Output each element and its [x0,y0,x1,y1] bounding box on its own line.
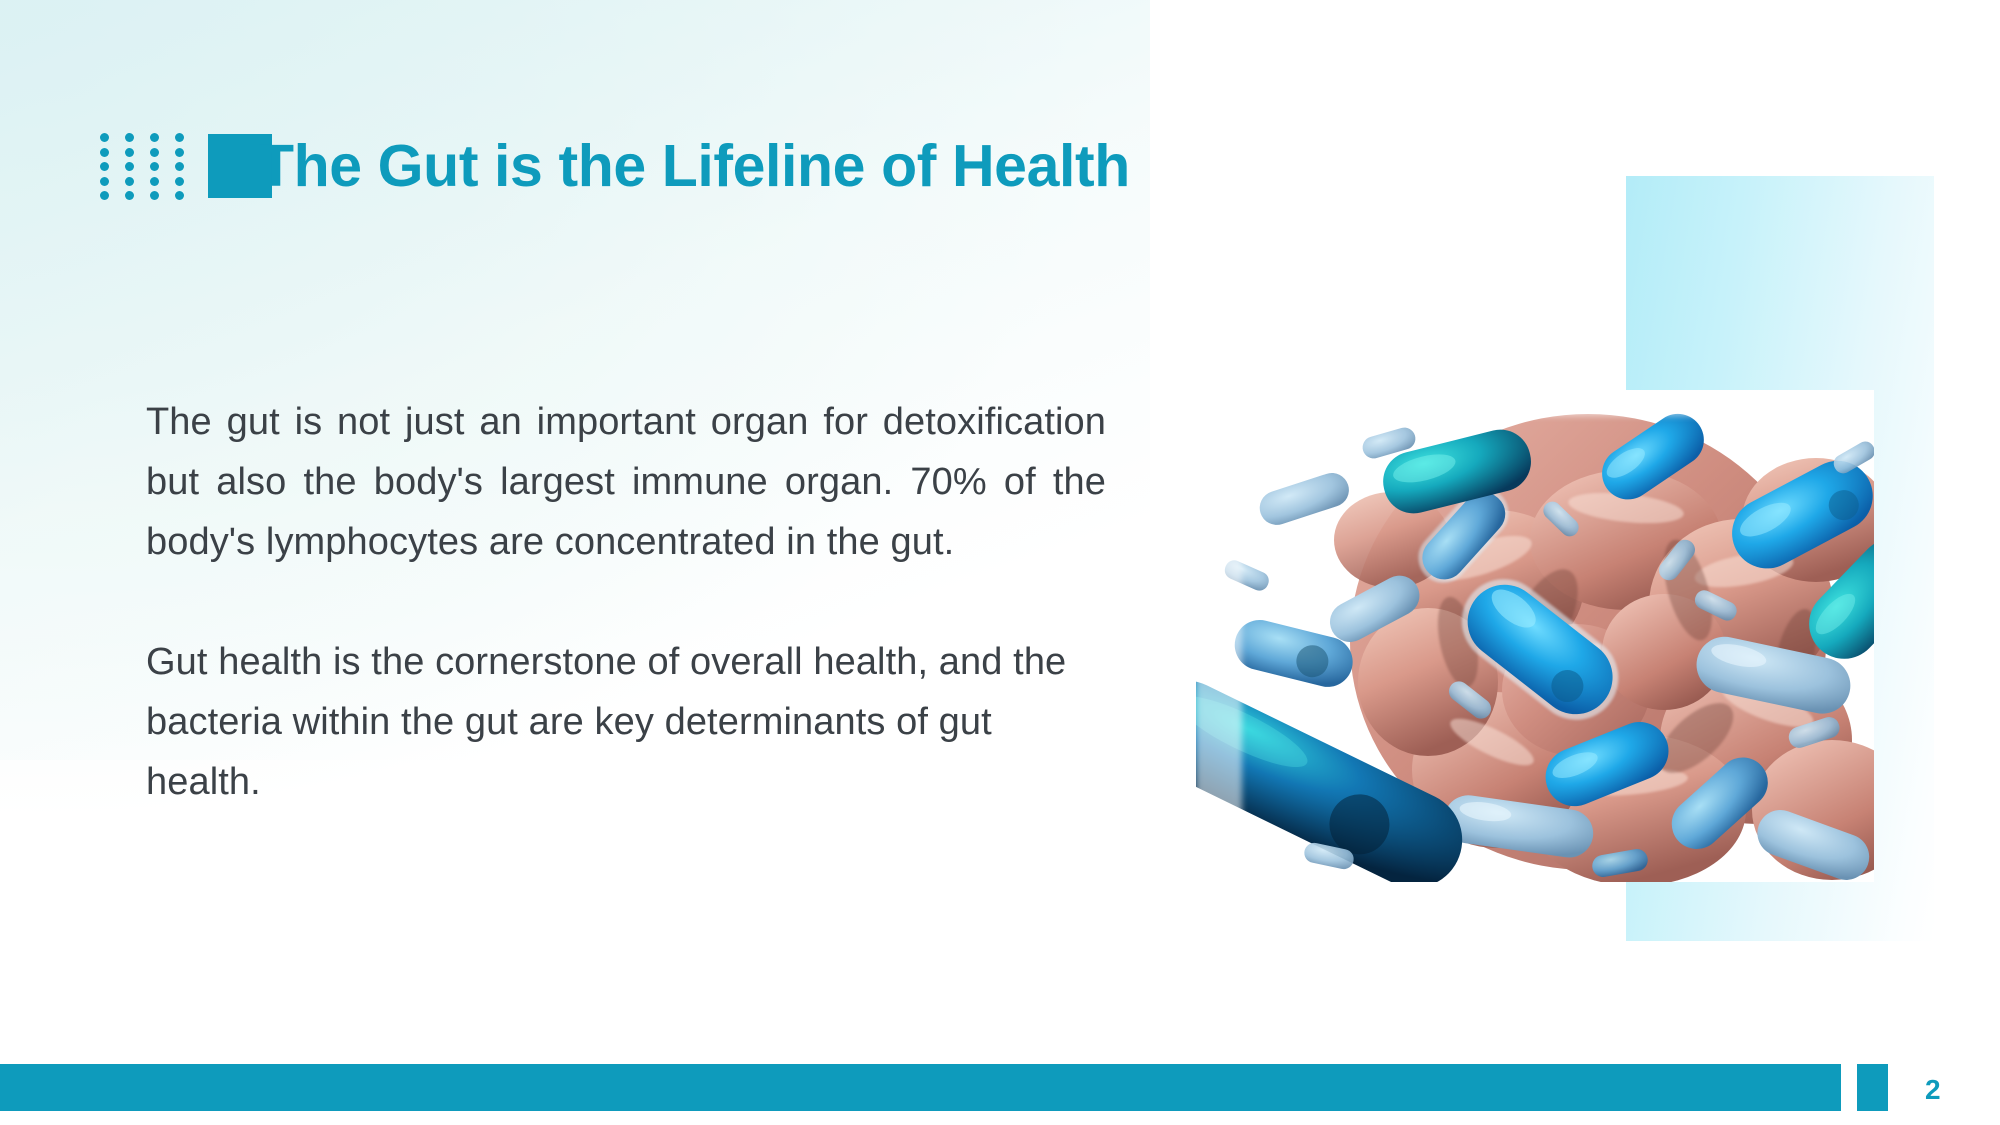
slide-title: The Gut is the Lifeline of Health [258,128,1130,204]
logo-dot [150,133,159,142]
logo-dot [125,133,134,142]
logo-dot [175,148,184,157]
logo-dot [175,177,184,186]
gut-bacteria-photo [1196,390,1874,882]
logo-dot [100,148,109,157]
logo-dot [125,177,134,186]
logo-dot [150,148,159,157]
slide-canvas: The Gut is the Lifeline of Health The gu… [0,0,2000,1125]
logo-dot [125,162,134,171]
logo-dot [175,133,184,142]
footer-bar [0,1064,1841,1111]
logo-dot [175,162,184,171]
logo-dot [125,148,134,157]
logo-dot [150,162,159,171]
brand-logo [100,133,272,199]
body-paragraph-1: The gut is not just an important organ f… [146,392,1106,572]
logo-dot [150,191,159,200]
logo-dot [100,162,109,171]
page-number: 2 [1925,1073,1965,1107]
body-paragraph-2: Gut health is the cornerstone of overall… [146,632,1106,812]
logo-dot [150,177,159,186]
dot-grid-icon [100,133,200,199]
logo-dot [100,191,109,200]
body-text-column: The gut is not just an important organ f… [146,392,1106,812]
footer-accent-chip [1857,1064,1888,1111]
logo-dot [175,191,184,200]
logo-dot [100,177,109,186]
logo-dot [100,133,109,142]
logo-dot [125,191,134,200]
